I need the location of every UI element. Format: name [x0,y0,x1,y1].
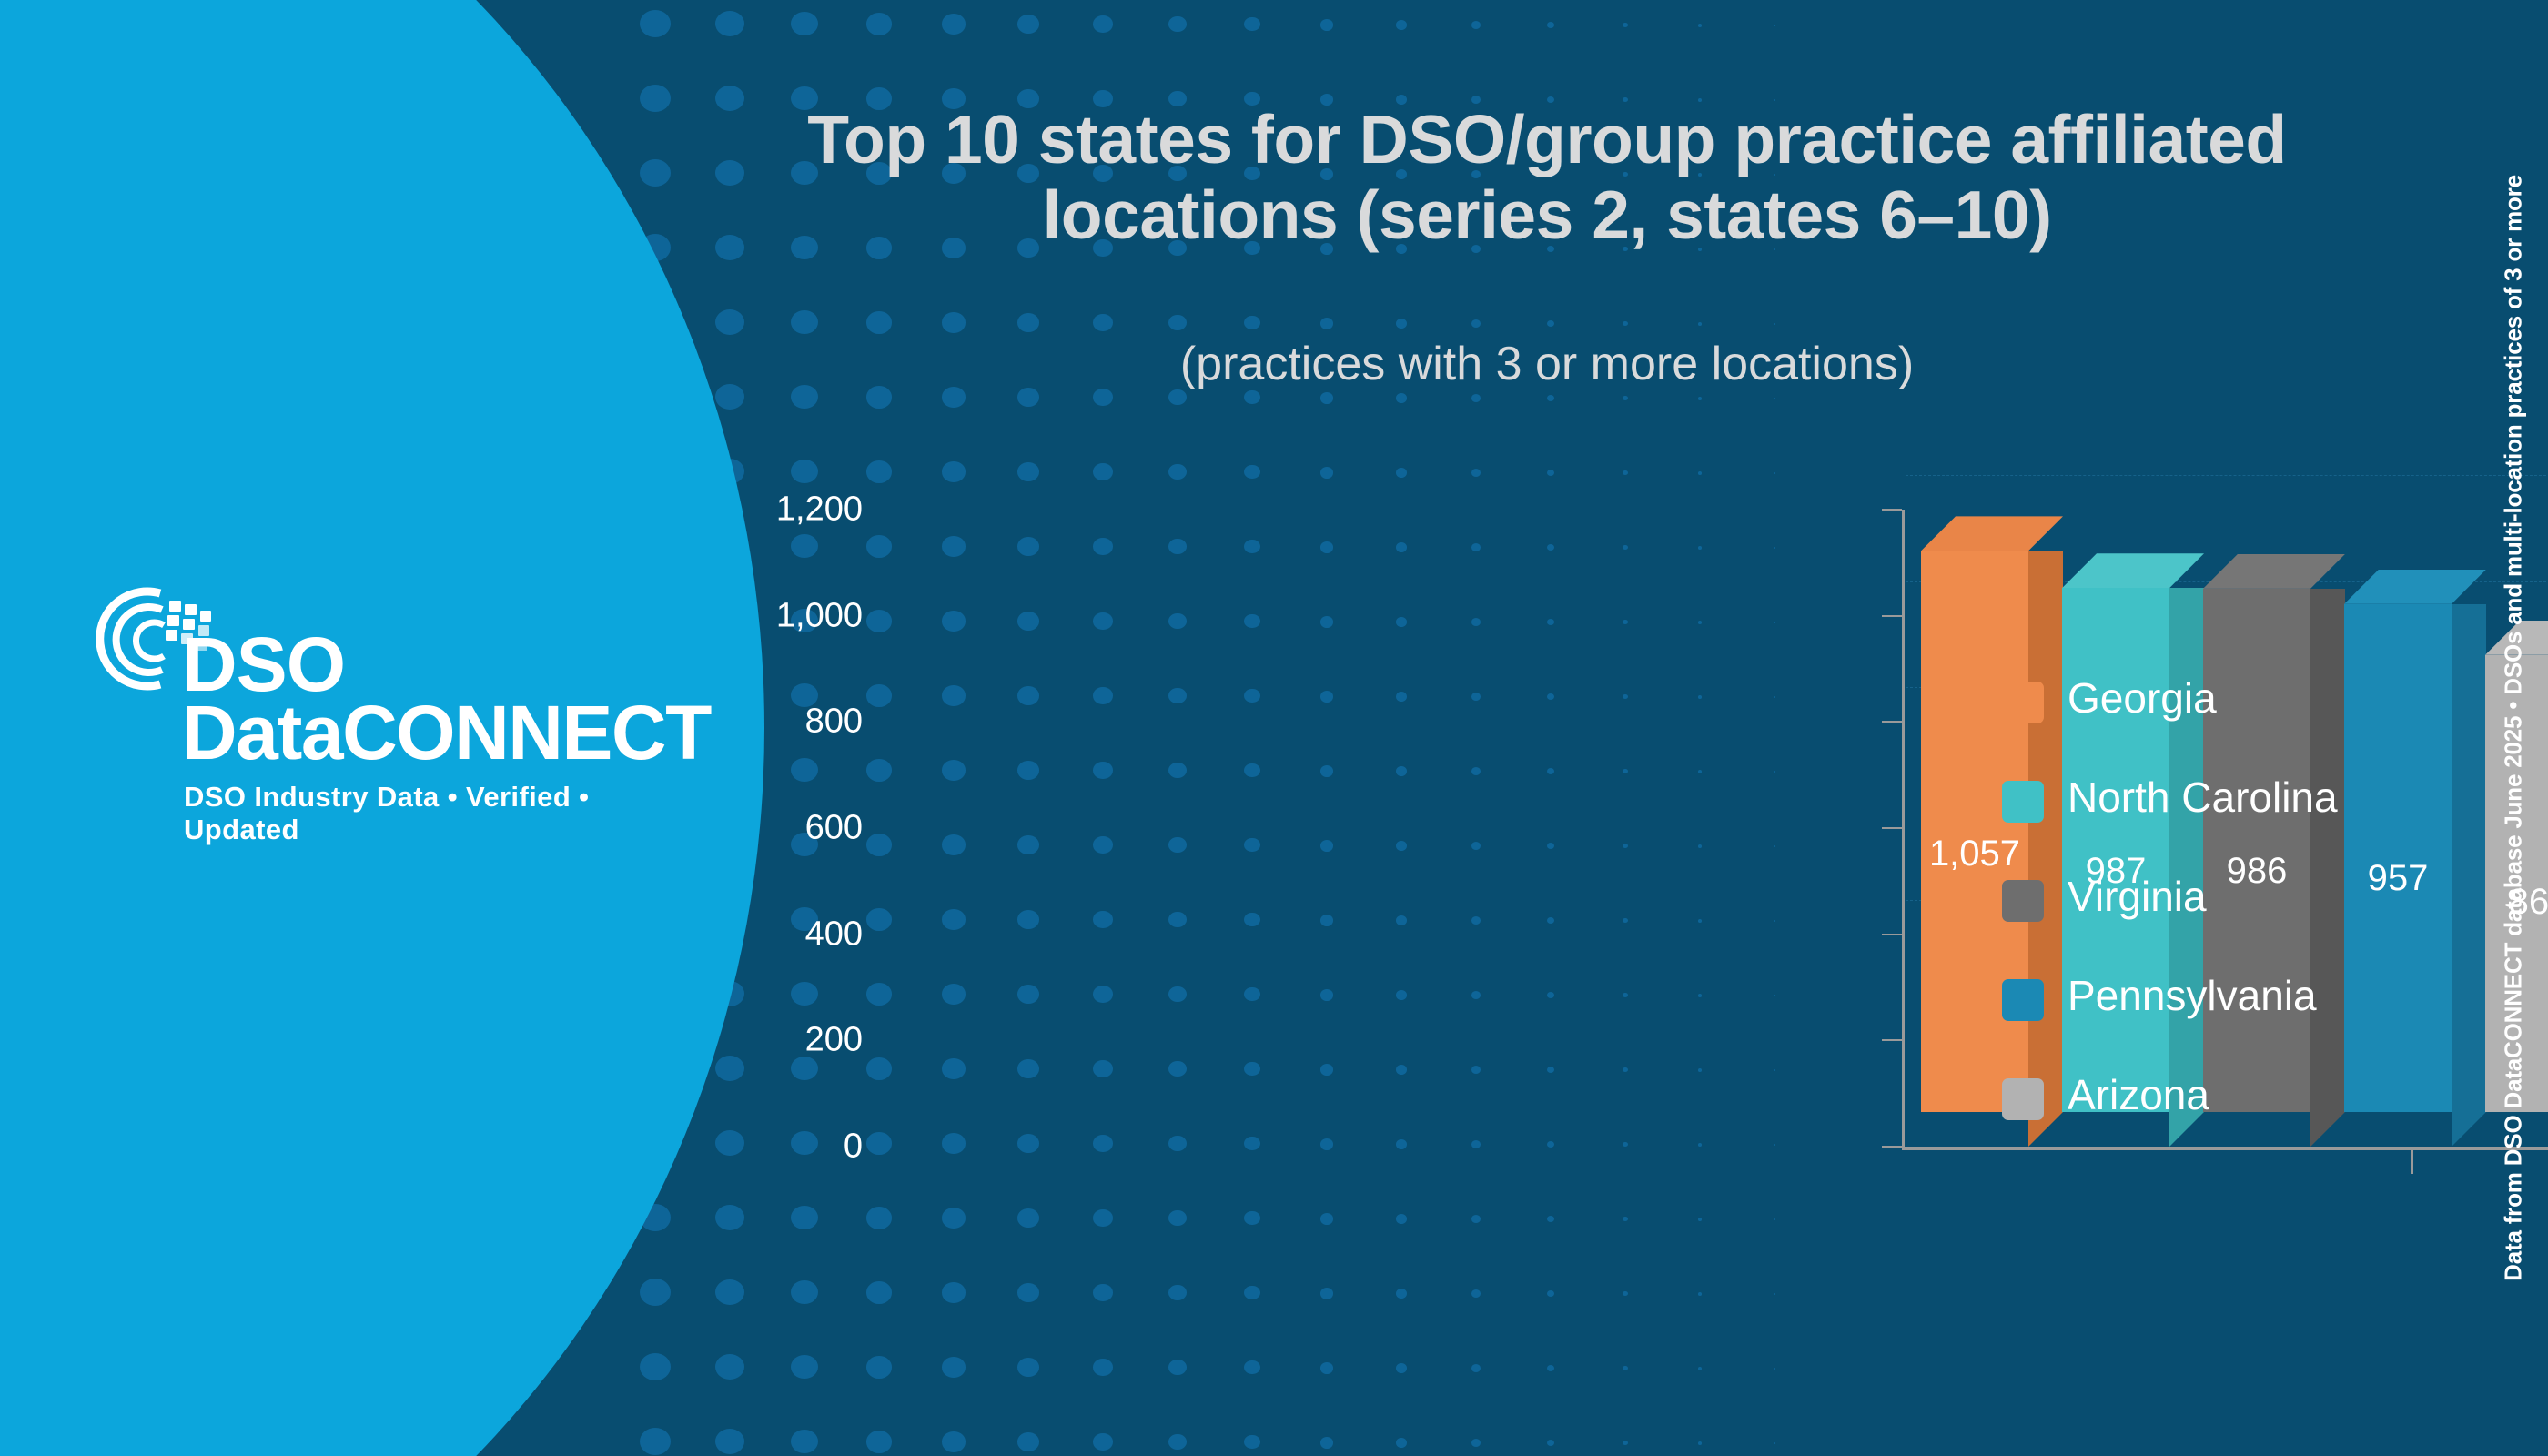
dot [942,461,966,481]
dot [866,460,892,482]
bar-side-face [2169,588,2204,1112]
dot [1471,1439,1481,1447]
dot [866,1281,892,1303]
dot [1774,1368,1775,1370]
dot [1547,470,1555,477]
dot [1698,471,1702,475]
bar-top-face [1921,516,2063,551]
dot [1623,1291,1628,1297]
dot [942,14,966,34]
dot [1017,1283,1038,1302]
dot [1017,313,1038,332]
y-axis-line [1902,510,1905,1147]
dot [640,1279,671,1306]
dot [1168,16,1186,32]
bar-side-face [2452,604,2486,1112]
dot [1244,1360,1259,1374]
y-axis-tick [1882,509,1902,511]
legend-swatch-icon [2002,979,2044,1021]
dot [1320,318,1334,329]
dot [1093,389,1112,406]
dot [1774,472,1775,474]
dot [866,311,892,333]
dot [1244,1286,1259,1299]
legend-item-label: Pennsylvania [2068,971,2317,1020]
dot [1093,1433,1112,1451]
dot [1471,1289,1481,1298]
dot [791,1355,818,1379]
dot [1396,1363,1408,1373]
y-axis-tick-label: 1,000 [681,596,863,635]
dot [1244,17,1259,31]
bar-virginia: 986 [2203,589,2310,1147]
dot [1093,15,1112,33]
dot [715,1205,744,1230]
dot [1244,316,1259,329]
legend-swatch-icon [2002,781,2044,823]
dot [640,159,671,187]
dot [866,13,892,35]
dot [1698,1292,1702,1296]
dot [791,12,818,35]
dot [942,1282,966,1302]
bar-side-bevel [2310,1112,2345,1147]
dot [1168,389,1186,405]
brand-logo: DSO DataCONNECT DSO Industry Data • Veri… [82,573,664,846]
dot [1396,468,1408,478]
bar-side-face [2310,589,2345,1112]
dot [791,1430,818,1453]
bar-front-face [2203,589,2310,1112]
y-axis-tick [1882,934,1902,935]
bar-value-label: 957 [2344,858,2452,899]
dot [1471,469,1481,477]
dot [1547,320,1555,328]
legend-item-label: Virginia [2068,872,2207,921]
dot [1471,319,1481,328]
bar-side-bevel [2452,1112,2486,1147]
y-axis-tick-label: 0 [681,1127,863,1167]
y-axis-tick [1882,615,1902,617]
legend-item-label: Arizona [2068,1070,2209,1119]
dot [1396,318,1408,329]
dot [1698,1441,1702,1445]
y-axis-tick [1882,827,1902,829]
dot [1396,20,1408,30]
dot [866,1356,892,1378]
dot [1698,24,1702,27]
dot [1698,397,1702,400]
dot [1320,1362,1334,1374]
dot [1320,19,1334,31]
bar-value-label: 986 [2203,851,2310,892]
dot [1093,1359,1112,1376]
dot [1547,22,1555,29]
dot [1093,1284,1112,1301]
dot [715,1279,744,1305]
y-axis-tick-label: 800 [681,703,863,742]
dot [1168,1360,1186,1375]
dot [1471,394,1481,402]
dot [1017,462,1038,481]
y-axis-tick-label: 600 [681,809,863,848]
bar-top-face [2062,553,2204,588]
logo-line-2: DataCONNECT [182,694,711,771]
dot [1017,1358,1038,1377]
dot [1623,470,1628,476]
dot [1320,392,1334,404]
bar-georgia: 1,057 [1921,551,2028,1147]
dot [1396,1289,1408,1299]
dot [640,1353,671,1380]
dot [1698,1367,1702,1370]
dot [791,1280,818,1304]
bar-north-carolina: 987 [2062,588,2169,1147]
dot [1093,314,1112,331]
dot [1168,1434,1186,1450]
bar-top-face [2203,554,2345,589]
dot [1774,323,1775,325]
dot [1623,1441,1628,1446]
dot [1244,1435,1259,1449]
dot [1093,463,1112,480]
dot [1244,465,1259,479]
dot [1168,464,1186,480]
dot [866,1431,892,1452]
x-axis-center-tick [2411,1150,2413,1174]
legend-swatch-icon [2002,880,2044,922]
dot [640,10,671,37]
dot [640,85,671,112]
dot [1396,393,1408,403]
y-axis-tick [1882,1039,1902,1041]
dot [715,1354,744,1380]
y-axis-tick-label: 400 [681,915,863,954]
dot [1774,1442,1775,1444]
dot [1320,467,1334,479]
gridline [1906,475,2548,476]
bar-front-face [1921,551,2028,1112]
source-note: Data from DSO DataCONNECT database June … [2500,175,2528,1281]
dot [1623,396,1628,401]
bar-chart: 02004006008001,0001,2001,057987986957861 [801,510,1984,1256]
dot [1774,25,1775,26]
dot [1623,23,1628,28]
chart-subtitle: (practices with 3 or more locations) [692,337,2402,391]
bar-side-face [2028,551,2063,1112]
y-axis-tick-label: 1,200 [681,490,863,530]
dot [1547,1440,1555,1447]
dot [1547,1365,1555,1372]
infographic-canvas: DSO DataCONNECT DSO Industry Data • Veri… [0,0,2548,1456]
dot [1547,1290,1555,1298]
dot [640,1428,671,1455]
dot [1244,390,1259,404]
bar-value-label: 1,057 [1921,834,2028,875]
y-axis-tick [1882,1146,1902,1148]
dot [1017,1432,1038,1451]
chart-title: Top 10 states for DSO/group practice aff… [692,102,2402,252]
x-axis-baseline [1902,1147,2548,1150]
dot [1623,1366,1628,1371]
dot [942,1357,966,1377]
dot [1547,395,1555,402]
legend-item-label: Georgia [2068,673,2217,723]
y-axis-tick [1882,721,1902,723]
dot [942,1431,966,1451]
dot [1471,21,1481,29]
dot [1168,1285,1186,1300]
dot [791,460,818,483]
dot [715,309,744,335]
dot [1396,1438,1408,1448]
dot [1320,1288,1334,1299]
dot [1017,15,1038,34]
dot [942,312,966,332]
bar-pennsylvania: 957 [2344,604,2452,1147]
legend-item-label: North Carolina [2068,773,2338,822]
legend-swatch-icon [2002,1078,2044,1120]
dot [1623,321,1628,327]
source-note-container: Data from DSO DataCONNECT database June … [2486,0,2541,1456]
dot [1774,398,1775,399]
dot [1320,1437,1334,1449]
dot [1774,1293,1775,1295]
dot [715,11,744,36]
dot [1471,1364,1481,1372]
dot [1168,315,1186,330]
dot [715,1429,744,1454]
dot [1698,322,1702,326]
bar-top-face [2344,570,2486,604]
dot [791,310,818,334]
y-axis-tick-label: 200 [681,1021,863,1060]
logo-tagline: DSO Industry Data • Verified • Updated [184,781,664,846]
legend-swatch-icon [2002,682,2044,723]
bar-front-face [2062,588,2169,1112]
